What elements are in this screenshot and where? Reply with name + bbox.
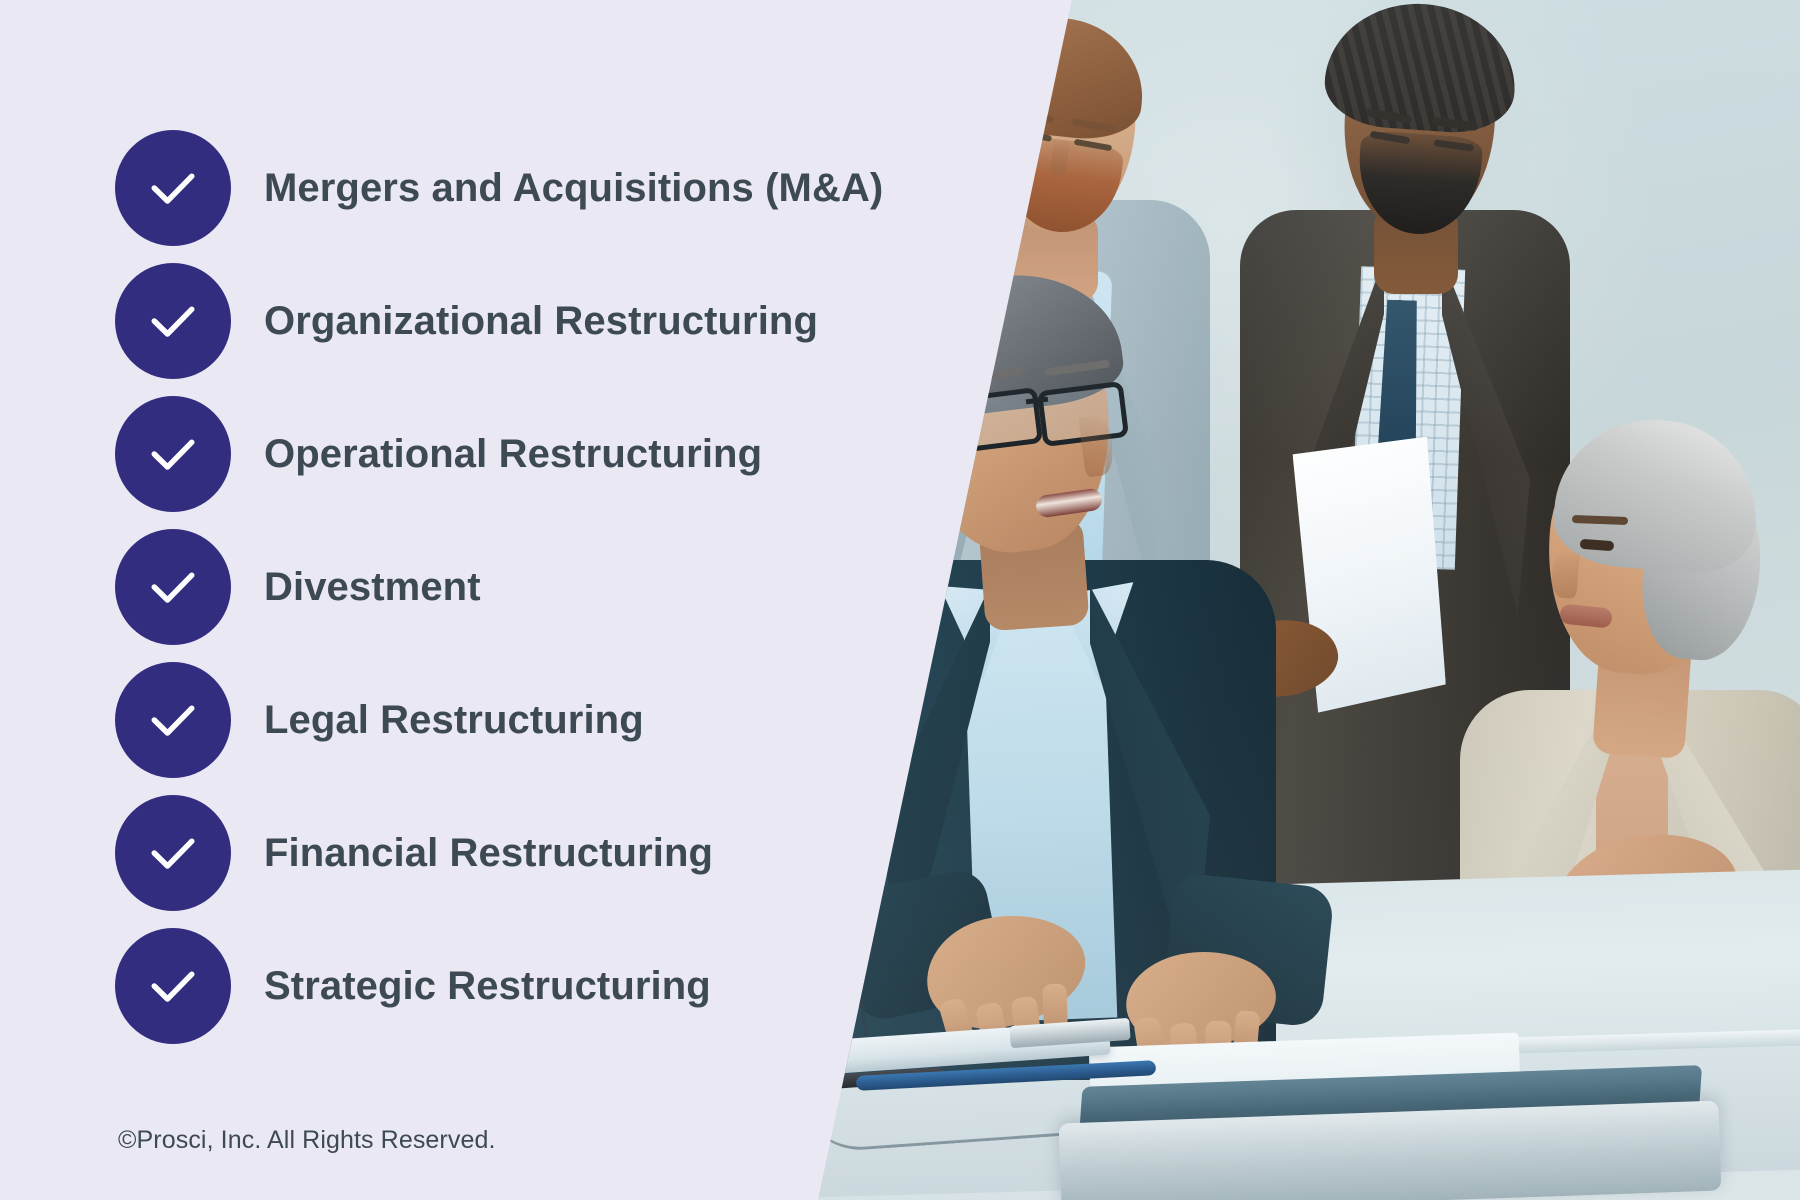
check-icon (115, 662, 231, 778)
checklist-item-label: Operational Restructuring (264, 432, 762, 477)
check-icon (115, 795, 231, 911)
checklist-item-label: Divestment (264, 565, 481, 610)
check-icon (115, 928, 231, 1044)
check-icon (115, 396, 231, 512)
check-icon (115, 529, 231, 645)
checklist-item-0[interactable]: Mergers and Acquisitions (M&A) (115, 130, 883, 246)
check-icon (115, 263, 231, 379)
checklist-item-2[interactable]: Operational Restructuring (115, 396, 762, 512)
checklist-item-label: Strategic Restructuring (264, 964, 711, 1009)
checklist-item-5[interactable]: Financial Restructuring (115, 795, 713, 911)
seated-woman-nose (1550, 551, 1580, 599)
checklist-item-label: Mergers and Acquisitions (M&A) (264, 166, 883, 211)
checklist-item-label: Legal Restructuring (264, 698, 644, 743)
slide-root: Mergers and Acquisitions (M&A) Organizat… (0, 0, 1800, 1200)
checklist-item-1[interactable]: Organizational Restructuring (115, 263, 818, 379)
checklist-item-label: Financial Restructuring (264, 831, 713, 876)
checklist-item-6[interactable]: Strategic Restructuring (115, 928, 711, 1044)
checklist-item-4[interactable]: Legal Restructuring (115, 662, 644, 778)
check-icon (115, 130, 231, 246)
checklist-item-label: Organizational Restructuring (264, 299, 818, 344)
checklist-item-3[interactable]: Divestment (115, 529, 481, 645)
copyright-notice: ©Prosci, Inc. All Rights Reserved. (118, 1126, 496, 1155)
